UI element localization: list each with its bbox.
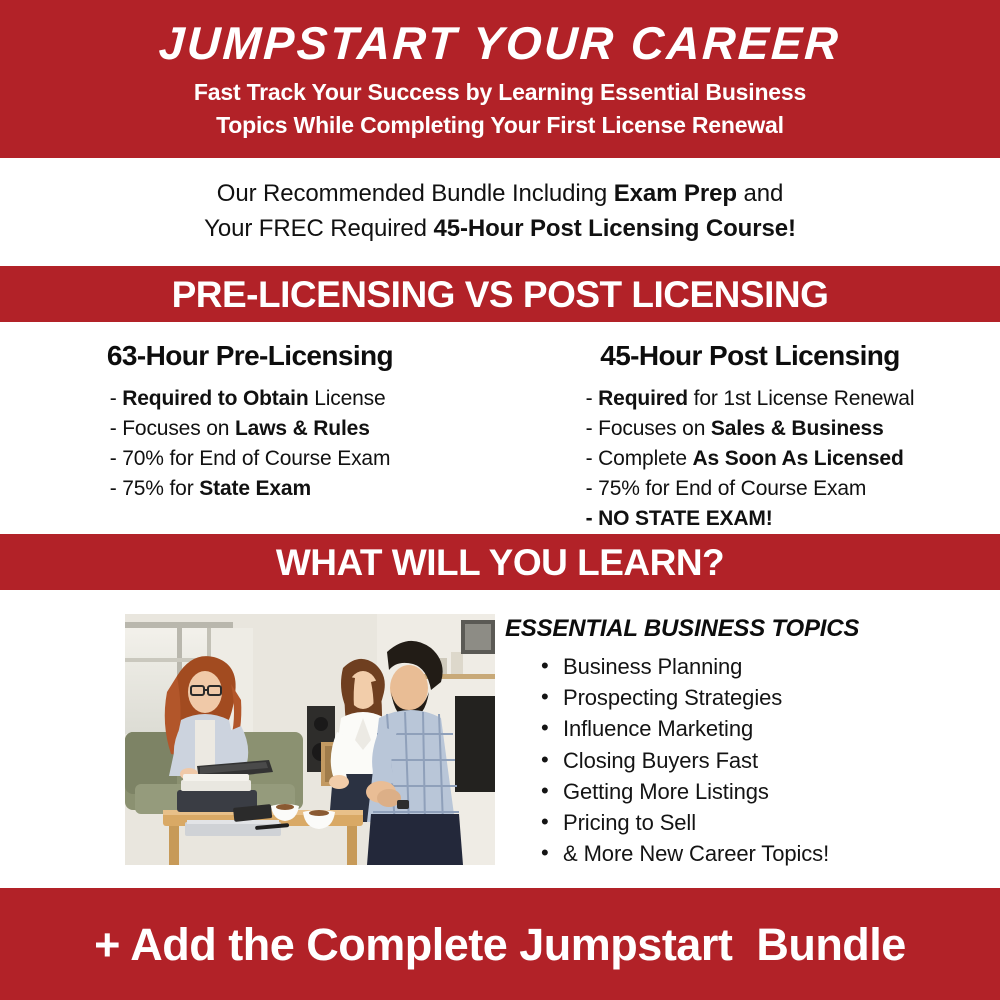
item-text: - 75% for End of Course Exam (586, 477, 867, 500)
item-emphasis: State Exam (199, 477, 311, 500)
compare-banner-label: PRE-LICENSING VS POST LICENSING (172, 276, 829, 313)
item-text: for 1st License Renewal (688, 387, 914, 410)
promo-poster: JUMPSTART YOUR CAREER Fast Track Your Su… (0, 0, 1000, 1000)
intro-line1-bold: Exam Prep (614, 180, 737, 207)
item-text: - 75% for (110, 477, 200, 500)
list-item: Influence Marketing (541, 713, 925, 744)
item-text: License (309, 387, 386, 410)
intro-line2-pre: Your FREC Required (204, 215, 433, 242)
column-post-licensing: 45-Hour Post Licensing - Required for 1s… (500, 340, 1000, 534)
list-item: - Complete As Soon As Licensed (586, 444, 915, 474)
intro-line1-post: and (737, 180, 783, 207)
item-emphasis: Sales & Business (711, 417, 884, 440)
item-text: - Focuses on (110, 417, 235, 440)
list-item: - 75% for State Exam (110, 474, 391, 504)
intro-line2-bold: 45-Hour Post Licensing Course! (433, 215, 795, 242)
item-emphasis: Laws & Rules (235, 417, 370, 440)
list-item: Prospecting Strategies (541, 682, 925, 713)
item-emphasis: Required to Obtain (122, 387, 308, 410)
hero-subtitle-line2: Topics While Completing Your First Licen… (216, 112, 784, 138)
topics-block: ESSENTIAL BUSINESS TOPICS Business Plann… (505, 615, 925, 870)
intro-line-1: Our Recommended Bundle Including Exam Pr… (217, 177, 783, 212)
item-text: - (110, 387, 123, 410)
list-item: Pricing to Sell (541, 807, 925, 838)
intro-line1-pre: Our Recommended Bundle Including (217, 180, 614, 207)
list-item: & More New Career Topics! (541, 838, 925, 869)
intro-section: Our Recommended Bundle Including Exam Pr… (0, 158, 1000, 266)
topics-list: Business Planning Prospecting Strategies… (505, 651, 925, 870)
learn-section: ESSENTIAL BUSINESS TOPICS Business Plann… (0, 590, 1000, 888)
learn-banner: WHAT WILL YOU LEARN? (0, 534, 1000, 590)
post-licensing-title: 45-Hour Post Licensing (600, 340, 900, 372)
list-item: - 70% for End of Course Exam (110, 444, 391, 474)
pre-licensing-list: - Required to Obtain License - Focuses o… (110, 384, 391, 504)
learn-banner-label: WHAT WILL YOU LEARN? (276, 544, 724, 581)
list-item: - Required for 1st License Renewal (586, 384, 915, 414)
list-item: - 75% for End of Course Exam (586, 474, 915, 504)
list-item: Closing Buyers Fast (541, 745, 925, 776)
hero-subtitle-line1: Fast Track Your Success by Learning Esse… (194, 79, 806, 105)
pre-licensing-title: 63-Hour Pre-Licensing (107, 340, 393, 372)
item-text: - (586, 387, 599, 410)
post-licensing-list: - Required for 1st License Renewal - Foc… (586, 384, 915, 534)
topics-title: ESSENTIAL BUSINESS TOPICS (505, 615, 925, 643)
list-item: - NO STATE EXAM! (586, 504, 915, 534)
column-pre-licensing: 63-Hour Pre-Licensing - Required to Obta… (0, 340, 500, 534)
comparison-section: 63-Hour Pre-Licensing - Required to Obta… (0, 322, 1000, 534)
item-text: - Complete (586, 447, 693, 470)
hero-banner: JUMPSTART YOUR CAREER Fast Track Your Su… (0, 0, 1000, 158)
item-text: - Focuses on (586, 417, 711, 440)
photo-illustration (125, 614, 495, 865)
add-bundle-label: + Add the Complete Jumpstart Bundle (94, 922, 906, 967)
add-bundle-cta[interactable]: + Add the Complete Jumpstart Bundle (0, 888, 1000, 1000)
hero-subtitle: Fast Track Your Success by Learning Esse… (194, 76, 806, 141)
item-emphasis: As Soon As Licensed (693, 447, 904, 470)
list-item: Business Planning (541, 651, 925, 682)
compare-banner: PRE-LICENSING VS POST LICENSING (0, 266, 1000, 322)
item-emphasis: - NO STATE EXAM! (586, 507, 773, 530)
consultation-photo (125, 614, 495, 865)
list-item: Getting More Listings (541, 776, 925, 807)
list-item: - Focuses on Sales & Business (586, 414, 915, 444)
list-item: - Focuses on Laws & Rules (110, 414, 391, 444)
item-text: - 70% for End of Course Exam (110, 447, 391, 470)
page-title: JUMPSTART YOUR CAREER (158, 20, 842, 66)
list-item: - Required to Obtain License (110, 384, 391, 414)
item-emphasis: Required (598, 387, 688, 410)
intro-line-2: Your FREC Required 45-Hour Post Licensin… (204, 212, 796, 247)
